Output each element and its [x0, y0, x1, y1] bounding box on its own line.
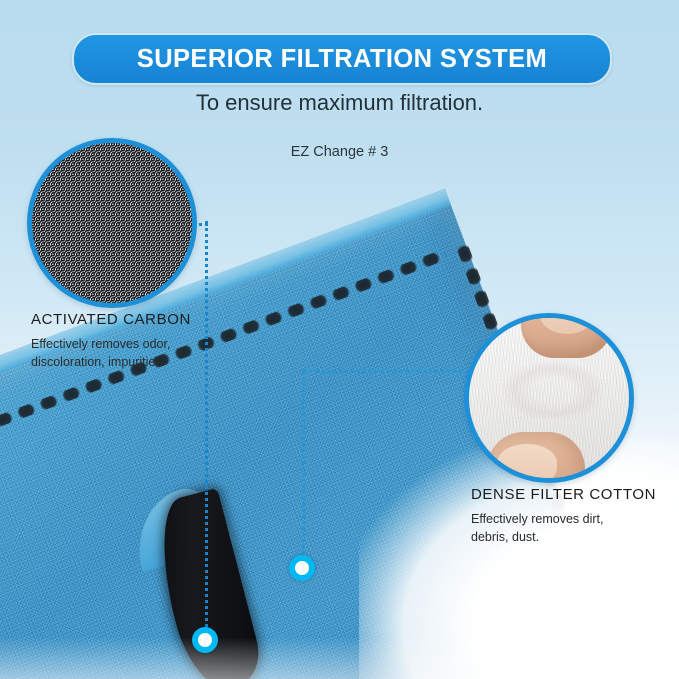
- dense-filter-cotton-caption: DENSE FILTER COTTON Effectively removes …: [471, 486, 656, 546]
- page-title: SUPERIOR FILTRATION SYSTEM: [137, 45, 547, 74]
- title-banner: SUPERIOR FILTRATION SYSTEM: [72, 33, 612, 85]
- cotton-wisp: [503, 362, 603, 420]
- activated-carbon-title: ACTIVATED CARBON: [31, 311, 191, 328]
- dense-filter-cotton-description: Effectively removes dirt, debris, dust.: [471, 510, 656, 546]
- activated-carbon-description-line2: discoloration, impurities.: [31, 353, 191, 371]
- dense-filter-cotton-description-line1: Effectively removes dirt,: [471, 510, 656, 528]
- activated-carbon-description-line1: Effectively removes odor,: [31, 335, 191, 353]
- activated-carbon-inset-image: [27, 138, 197, 308]
- carbon-layer-marker[interactable]: [192, 627, 218, 653]
- cotton-layer-marker[interactable]: [289, 555, 315, 581]
- connector-carbon-vertical: [205, 221, 208, 640]
- activated-carbon-description: Effectively removes odor, discoloration,…: [31, 335, 191, 371]
- infographic-canvas: SUPERIOR FILTRATION SYSTEM To ensure max…: [0, 0, 679, 679]
- subtitle: To ensure maximum filtration.: [0, 90, 679, 116]
- activated-carbon-caption: ACTIVATED CARBON Effectively removes odo…: [31, 311, 191, 371]
- marker-inner-dot: [295, 561, 309, 575]
- fingernail-bottom: [497, 444, 557, 483]
- dense-filter-cotton-title: DENSE FILTER COTTON: [471, 486, 656, 503]
- connector-cotton-horizontal: [302, 370, 470, 373]
- photo-fade-bottom: [0, 637, 679, 679]
- dense-filter-cotton-description-line2: debris, dust.: [471, 528, 656, 546]
- connector-cotton-vertical: [302, 370, 305, 568]
- dense-filter-cotton-inset-image: [464, 313, 634, 483]
- marker-inner-dot: [198, 633, 212, 647]
